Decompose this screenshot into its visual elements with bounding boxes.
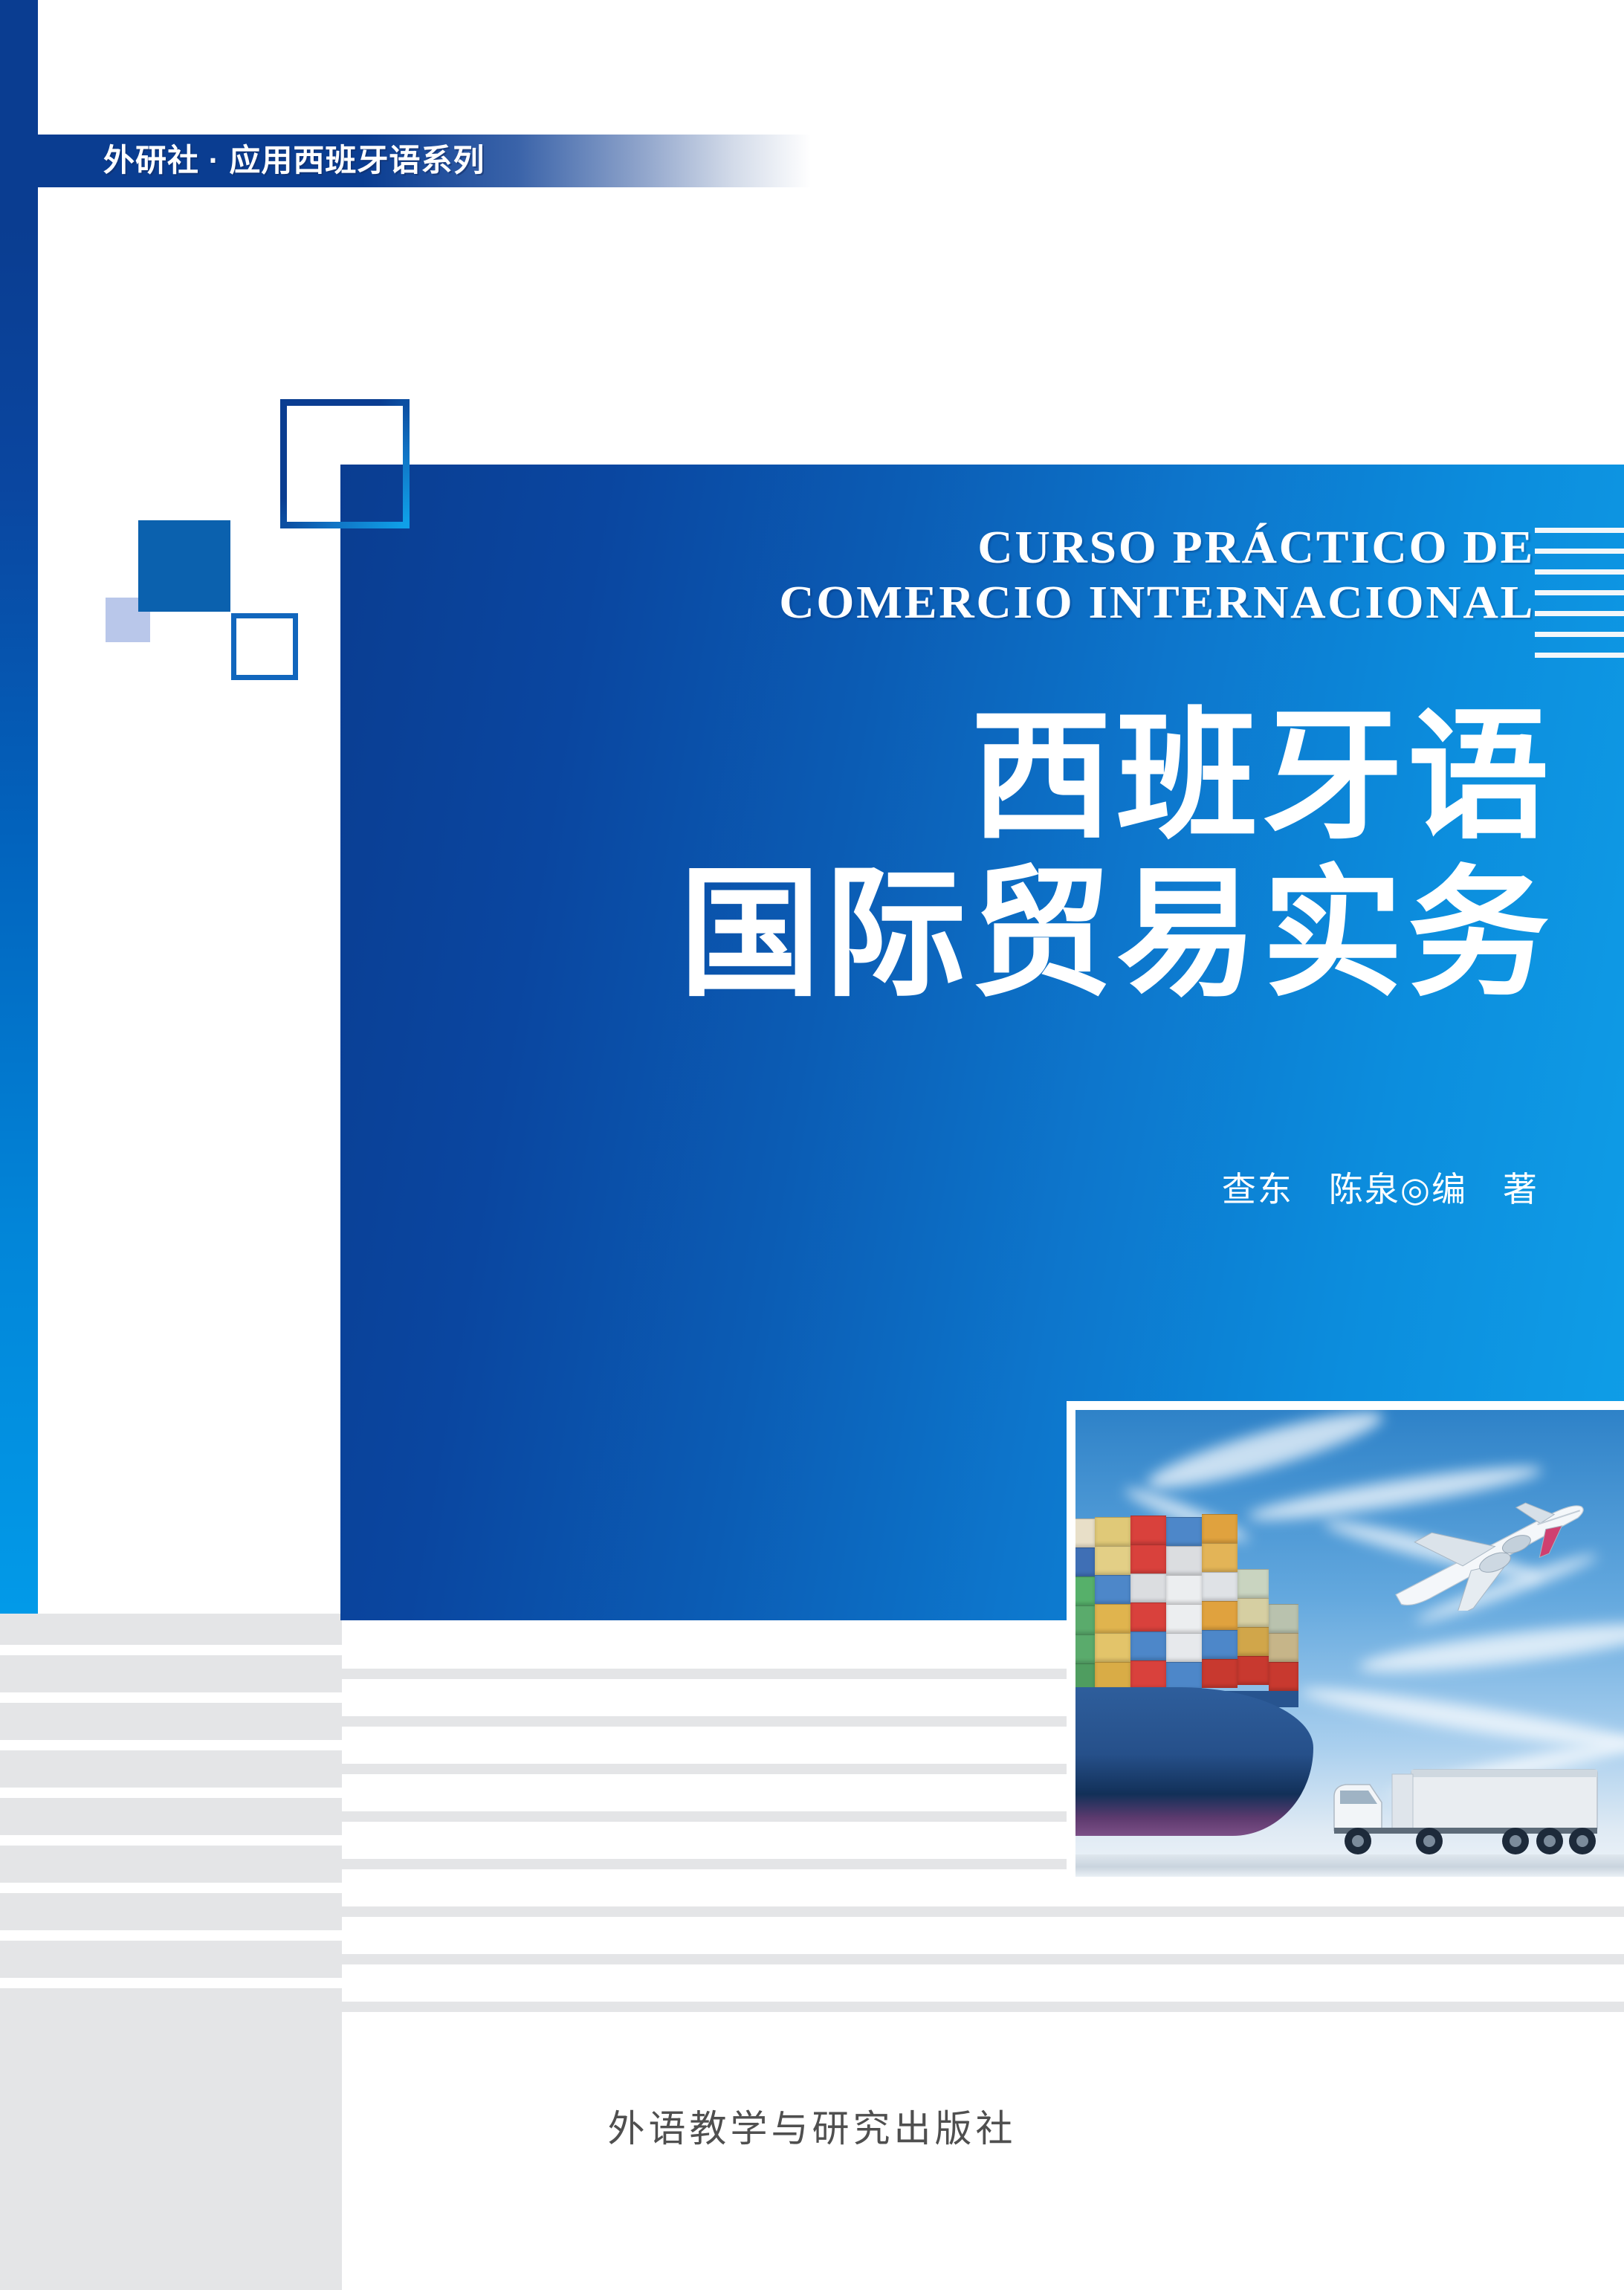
bottom-right-stripe bbox=[342, 1954, 1624, 1964]
bottom-gray-gap bbox=[0, 1930, 342, 1941]
bottom-gray-gap bbox=[0, 1978, 342, 1988]
bottom-gray-gap bbox=[0, 1740, 342, 1750]
book-cover: 外研社 · 应用西班牙语系列 CURSO PRÁCTICO DE COMERCI… bbox=[0, 0, 1624, 2290]
airplane-icon bbox=[1373, 1499, 1603, 1611]
publisher-name: 外语教学与研究出版社 bbox=[0, 2099, 1624, 2152]
container-stack bbox=[1166, 1517, 1202, 1691]
decor-square-solid-blue bbox=[138, 520, 230, 612]
bottom-gray-gap bbox=[0, 1692, 342, 1703]
decor-rule bbox=[1535, 590, 1624, 595]
main-title-line-2: 国际贸易实务 bbox=[372, 860, 1553, 1009]
cover-photo bbox=[1075, 1410, 1624, 1877]
decor-square-outline-small bbox=[231, 613, 298, 680]
cover-photo-frame bbox=[1067, 1401, 1624, 1877]
spanish-subtitle-line-1: CURSO PRÁCTICO DE bbox=[317, 520, 1535, 575]
bottom-gray-gap bbox=[0, 1788, 342, 1798]
series-banner-label: 外研社 · 应用西班牙语系列 bbox=[103, 138, 485, 183]
spanish-subtitle-line-2: COMERCIO INTERNACIONAL bbox=[317, 575, 1535, 630]
left-brand-bar bbox=[0, 0, 38, 1614]
decor-rule bbox=[1535, 632, 1624, 637]
author-line: 查东 陈泉◎编 著 bbox=[669, 1167, 1539, 1212]
decor-rule bbox=[1535, 653, 1624, 658]
spanish-subtitle: CURSO PRÁCTICO DE COMERCIO INTERNACIONAL bbox=[317, 520, 1535, 630]
bottom-gray-gap bbox=[0, 1645, 342, 1655]
container-stack bbox=[1075, 1518, 1095, 1692]
container-stack bbox=[1202, 1514, 1238, 1688]
decor-rule bbox=[1535, 569, 1624, 575]
decor-square-outline-large bbox=[280, 399, 410, 528]
container-stack bbox=[1238, 1569, 1269, 1685]
container-ship-icon bbox=[1075, 1687, 1313, 1836]
decor-rule bbox=[1535, 549, 1624, 554]
container-stack bbox=[1269, 1604, 1298, 1691]
bottom-right-stripe bbox=[342, 1906, 1624, 1917]
cloud-wisp-icon bbox=[1357, 1614, 1624, 1682]
decor-rules-group bbox=[1535, 528, 1624, 673]
container-stack bbox=[1130, 1516, 1166, 1689]
decor-rule bbox=[1535, 528, 1624, 533]
bottom-gray-column-gaps bbox=[0, 1614, 342, 1985]
bottom-gray-gap bbox=[0, 1835, 342, 1846]
decor-rule bbox=[1535, 611, 1624, 616]
main-title: 西班牙语 国际贸易实务 bbox=[372, 702, 1553, 1009]
truck-icon bbox=[1321, 1764, 1611, 1860]
container-stack bbox=[1095, 1517, 1130, 1691]
bottom-gray-gap bbox=[0, 1883, 342, 1893]
bottom-right-stripe bbox=[342, 2002, 1624, 2012]
main-title-line-1: 西班牙语 bbox=[372, 702, 1553, 851]
